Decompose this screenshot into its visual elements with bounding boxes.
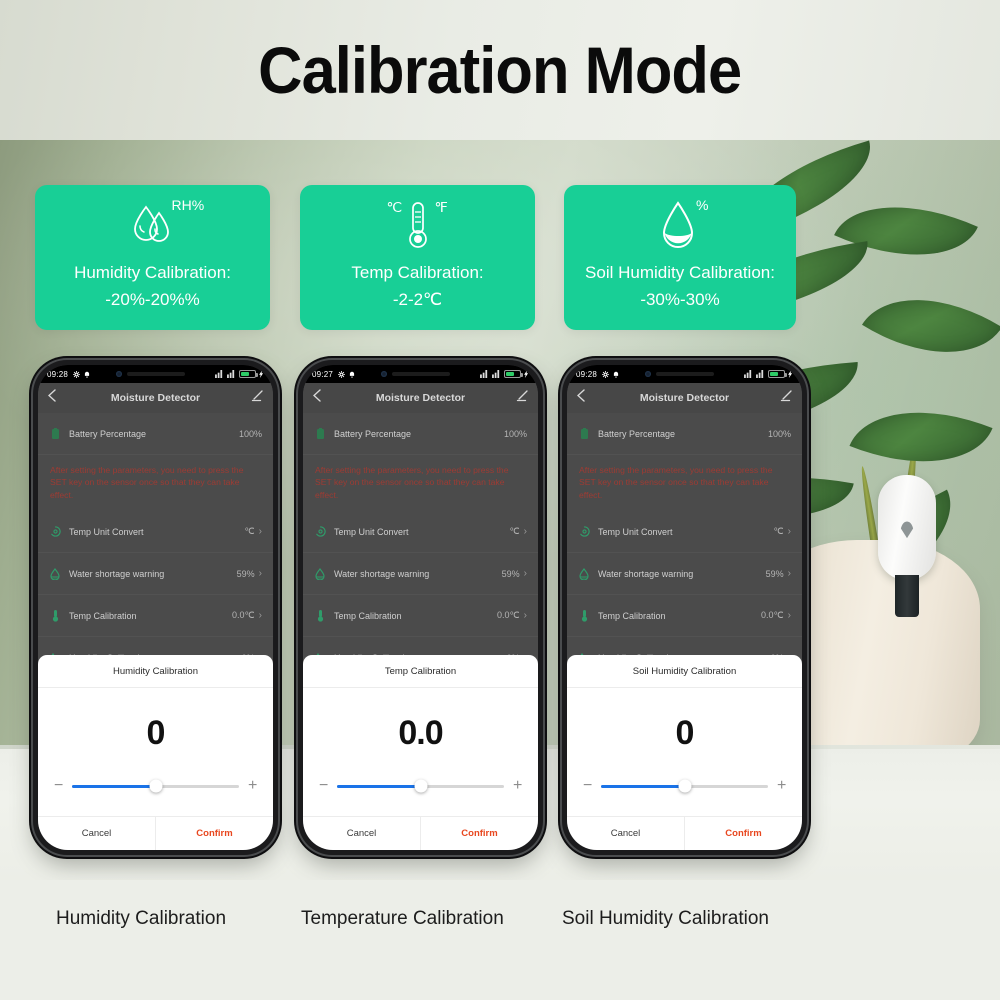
list-item-label: Temp Calibration: [598, 611, 666, 621]
feature-card-humidity: RH% Humidity Calibration: -20%-20%%: [35, 185, 270, 330]
confirm-button[interactable]: Confirm: [155, 817, 273, 850]
card-title: Humidity Calibration:: [74, 263, 231, 283]
calibration-slider[interactable]: − +: [303, 778, 538, 816]
alarm-bell-icon: [349, 371, 355, 378]
feature-card-soil-humidity: % Soil Humidity Calibration: -30%-30%: [564, 185, 796, 330]
card-unit-label: RH%: [172, 197, 205, 213]
battery-icon: [49, 428, 61, 439]
phone-notch: [110, 367, 202, 380]
cancel-button[interactable]: Cancel: [567, 817, 684, 850]
battery-icon: [504, 370, 521, 378]
list-item-value: ℃: [245, 526, 255, 537]
wifi-icon: [492, 370, 501, 378]
back-icon[interactable]: [577, 389, 585, 407]
sheet-title: Humidity Calibration: [38, 655, 273, 688]
alarm-bell-icon: [613, 371, 619, 378]
status-time: 09:27: [312, 370, 333, 379]
phone-mockup-humidity: 09:28 Moisture Detector: [33, 360, 278, 855]
calibration-slider[interactable]: − +: [38, 778, 273, 816]
slider-fill: [72, 785, 156, 788]
chevron-right-icon: ›: [259, 526, 262, 537]
slider-track[interactable]: [337, 785, 504, 788]
chevron-right-icon: ›: [788, 526, 791, 537]
list-item-battery[interactable]: Battery Percentage 100%: [567, 413, 802, 455]
list-item-battery[interactable]: Battery Percentage 100%: [303, 413, 538, 455]
title-band: Calibration Mode: [0, 0, 1000, 140]
increment-button[interactable]: +: [777, 778, 786, 794]
phone-notch: [375, 367, 467, 380]
list-item-value: 100%: [504, 429, 527, 439]
phone-screen: 09:28 Moisture Detector: [567, 365, 802, 850]
list-item-label: Temp Calibration: [69, 611, 137, 621]
calibration-bottom-sheet: Humidity Calibration 0 − + Cancel Confir…: [38, 655, 273, 850]
edit-pencil-icon[interactable]: [516, 389, 528, 407]
chevron-right-icon: ›: [788, 610, 791, 621]
card-title: Temp Calibration:: [351, 263, 483, 283]
plant-leaf: [849, 381, 992, 493]
alarm-bell-icon: [84, 371, 90, 378]
cellular-signal-icon: [215, 370, 224, 378]
caption-humidity: Humidity Calibration: [56, 908, 226, 930]
caption-row: Humidity Calibration Temperature Calibra…: [0, 880, 1000, 1000]
card-range: -30%-30%: [640, 290, 719, 310]
list-item-label: Battery Percentage: [334, 429, 411, 439]
confirm-button[interactable]: Confirm: [420, 817, 538, 850]
earpiece-speaker: [392, 372, 450, 376]
card-range: -20%-20%%: [105, 290, 200, 310]
charging-bolt-icon: [259, 370, 264, 378]
phone-mockup-soil-humidity: 09:28 Moisture Detector: [562, 360, 807, 855]
phone-notch: [639, 367, 731, 380]
setup-warning-text: After setting the parameters, you need t…: [38, 455, 273, 511]
calibration-bottom-sheet: Soil Humidity Calibration 0 − + Cancel C…: [567, 655, 802, 850]
list-item-battery[interactable]: Battery Percentage 100%: [38, 413, 273, 455]
app-title: Moisture Detector: [376, 392, 465, 404]
edit-pencil-icon[interactable]: [251, 389, 263, 407]
settings-gear-icon: [338, 371, 345, 378]
list-item-label: Water shortage warning: [69, 569, 164, 579]
list-item-temp-unit[interactable]: Temp Unit Convert ℃›: [303, 511, 538, 553]
wifi-icon: [756, 370, 765, 378]
decrement-button[interactable]: −: [583, 778, 592, 794]
phone-mockup-temperature: 09:27 Moisture Detector: [298, 360, 543, 855]
front-camera-icon: [116, 371, 122, 377]
list-item-label: Battery Percentage: [69, 429, 146, 439]
battery-icon: [768, 370, 785, 378]
earpiece-speaker: [656, 372, 714, 376]
list-item-label: Temp Unit Convert: [598, 527, 673, 537]
water-drop-icon: %: [656, 199, 704, 255]
calibration-value: 0.0: [303, 688, 538, 778]
list-item-value: ℃: [510, 526, 520, 537]
list-item-temp-calibration[interactable]: Temp Calibration 0.0℃›: [567, 595, 802, 637]
cellular-signal-icon: [480, 370, 489, 378]
slider-track[interactable]: [601, 785, 768, 788]
settings-gear-icon: [602, 371, 609, 378]
list-item-value: ℃: [774, 526, 784, 537]
sheet-title: Temp Calibration: [303, 655, 538, 688]
card-unit-fahrenheit-label: ℉: [435, 199, 448, 216]
list-item-value: 0.0℃: [497, 610, 520, 621]
card-range: -2-2℃: [393, 290, 442, 310]
sheet-actions: Cancel Confirm: [38, 816, 273, 850]
back-icon[interactable]: [313, 389, 321, 407]
status-bar: 09:28: [567, 365, 802, 383]
list-item-label: Temp Unit Convert: [69, 527, 144, 537]
app-title: Moisture Detector: [111, 392, 200, 404]
increment-button[interactable]: +: [513, 778, 522, 794]
list-item-label: Temp Unit Convert: [334, 527, 409, 537]
sheet-title: Soil Humidity Calibration: [567, 655, 802, 688]
calibration-bottom-sheet: Temp Calibration 0.0 − + Cancel Confirm: [303, 655, 538, 850]
sensor-logo-icon: [901, 521, 914, 538]
app-header: Moisture Detector: [567, 383, 802, 413]
list-item-value: 59%: [766, 569, 784, 579]
list-item-temp-calibration[interactable]: Temp Calibration 0.0℃›: [303, 595, 538, 637]
list-item-value: 0.0℃: [232, 610, 255, 621]
app-header: Moisture Detector: [303, 383, 538, 413]
list-item-water-shortage[interactable]: Water shortage warning 59%›: [303, 553, 538, 595]
list-item-label: Water shortage warning: [334, 569, 429, 579]
list-item-water-shortage[interactable]: Water shortage warning 59%›: [567, 553, 802, 595]
list-item-value: 100%: [239, 429, 262, 439]
list-item-value: 59%: [237, 569, 255, 579]
decrement-button[interactable]: −: [54, 778, 63, 794]
status-bar: 09:28: [38, 365, 273, 383]
earpiece-speaker: [127, 372, 185, 376]
status-time: 09:28: [47, 370, 68, 379]
chevron-right-icon: ›: [524, 610, 527, 621]
status-bar: 09:27: [303, 365, 538, 383]
chevron-right-icon: ›: [524, 568, 527, 579]
phone-screen: 09:27 Moisture Detector: [303, 365, 538, 850]
slider-track[interactable]: [72, 785, 239, 788]
water-drop-icon: [578, 568, 590, 580]
soil-sensor-device: [878, 475, 936, 580]
status-time: 09:28: [576, 370, 597, 379]
sensor-probe: [895, 575, 919, 617]
caption-soil-humidity: Soil Humidity Calibration: [562, 908, 769, 930]
water-drop-icon: [314, 568, 326, 580]
card-unit-label: %: [696, 197, 708, 213]
slider-knob[interactable]: [678, 780, 691, 793]
front-camera-icon: [381, 371, 387, 377]
sheet-actions: Cancel Confirm: [567, 816, 802, 850]
slider-knob[interactable]: [149, 780, 162, 793]
water-drop-icon: [49, 568, 61, 580]
page-title: Calibration Mode: [258, 37, 741, 103]
list-item-value: 59%: [502, 569, 520, 579]
list-item-temp-unit[interactable]: Temp Unit Convert ℃›: [567, 511, 802, 553]
chevron-right-icon: ›: [259, 568, 262, 579]
list-item-label: Water shortage warning: [598, 569, 693, 579]
cancel-button[interactable]: Cancel: [38, 817, 155, 850]
temp-unit-icon: [578, 526, 590, 537]
calibration-value: 0: [38, 688, 273, 778]
wifi-icon: [227, 370, 236, 378]
settings-gear-icon: [73, 371, 80, 378]
slider-fill: [601, 785, 685, 788]
thermometer-icon: ℃ ℉: [391, 199, 445, 255]
list-item-label: Battery Percentage: [598, 429, 675, 439]
caption-temperature: Temperature Calibration: [301, 908, 504, 930]
double-water-drop-icon: RH%: [126, 199, 180, 255]
chevron-right-icon: ›: [788, 568, 791, 579]
list-item-water-shortage[interactable]: Water shortage warning 59%›: [38, 553, 273, 595]
list-item-value: 0.0℃: [761, 610, 784, 621]
increment-button[interactable]: +: [248, 778, 257, 794]
edit-pencil-icon[interactable]: [780, 389, 792, 407]
battery-icon: [239, 370, 256, 378]
setup-warning-text: After setting the parameters, you need t…: [567, 455, 802, 511]
charging-bolt-icon: [788, 370, 793, 378]
list-item-temp-unit[interactable]: Temp Unit Convert ℃›: [38, 511, 273, 553]
temp-unit-icon: [314, 526, 326, 537]
thermometer-icon: [578, 609, 590, 622]
list-item-label: Temp Calibration: [334, 611, 402, 621]
setup-warning-text: After setting the parameters, you need t…: [303, 455, 538, 511]
thermometer-icon: [314, 609, 326, 622]
app-title: Moisture Detector: [640, 392, 729, 404]
back-icon[interactable]: [48, 389, 56, 407]
thermometer-icon: [49, 609, 61, 622]
card-title: Soil Humidity Calibration:: [585, 263, 775, 283]
slider-knob[interactable]: [414, 780, 427, 793]
list-item-temp-calibration[interactable]: Temp Calibration 0.0℃›: [38, 595, 273, 637]
decrement-button[interactable]: −: [319, 778, 328, 794]
calibration-value: 0: [567, 688, 802, 778]
battery-icon: [578, 428, 590, 439]
sheet-actions: Cancel Confirm: [303, 816, 538, 850]
slider-fill: [337, 785, 421, 788]
feature-card-temperature: ℃ ℉ Temp Calibration: -2-2℃: [300, 185, 535, 330]
battery-icon: [314, 428, 326, 439]
app-header: Moisture Detector: [38, 383, 273, 413]
confirm-button[interactable]: Confirm: [684, 817, 802, 850]
chevron-right-icon: ›: [524, 526, 527, 537]
cellular-signal-icon: [744, 370, 753, 378]
temp-unit-icon: [49, 526, 61, 537]
calibration-slider[interactable]: − +: [567, 778, 802, 816]
charging-bolt-icon: [524, 370, 529, 378]
phone-screen: 09:28 Moisture Detector: [38, 365, 273, 850]
chevron-right-icon: ›: [259, 610, 262, 621]
list-item-value: 100%: [768, 429, 791, 439]
feature-cards: RH% Humidity Calibration: -20%-20%% ℃ ℉ …: [0, 185, 1000, 330]
cancel-button[interactable]: Cancel: [303, 817, 420, 850]
front-camera-icon: [645, 371, 651, 377]
card-unit-celsius-label: ℃: [387, 199, 403, 216]
